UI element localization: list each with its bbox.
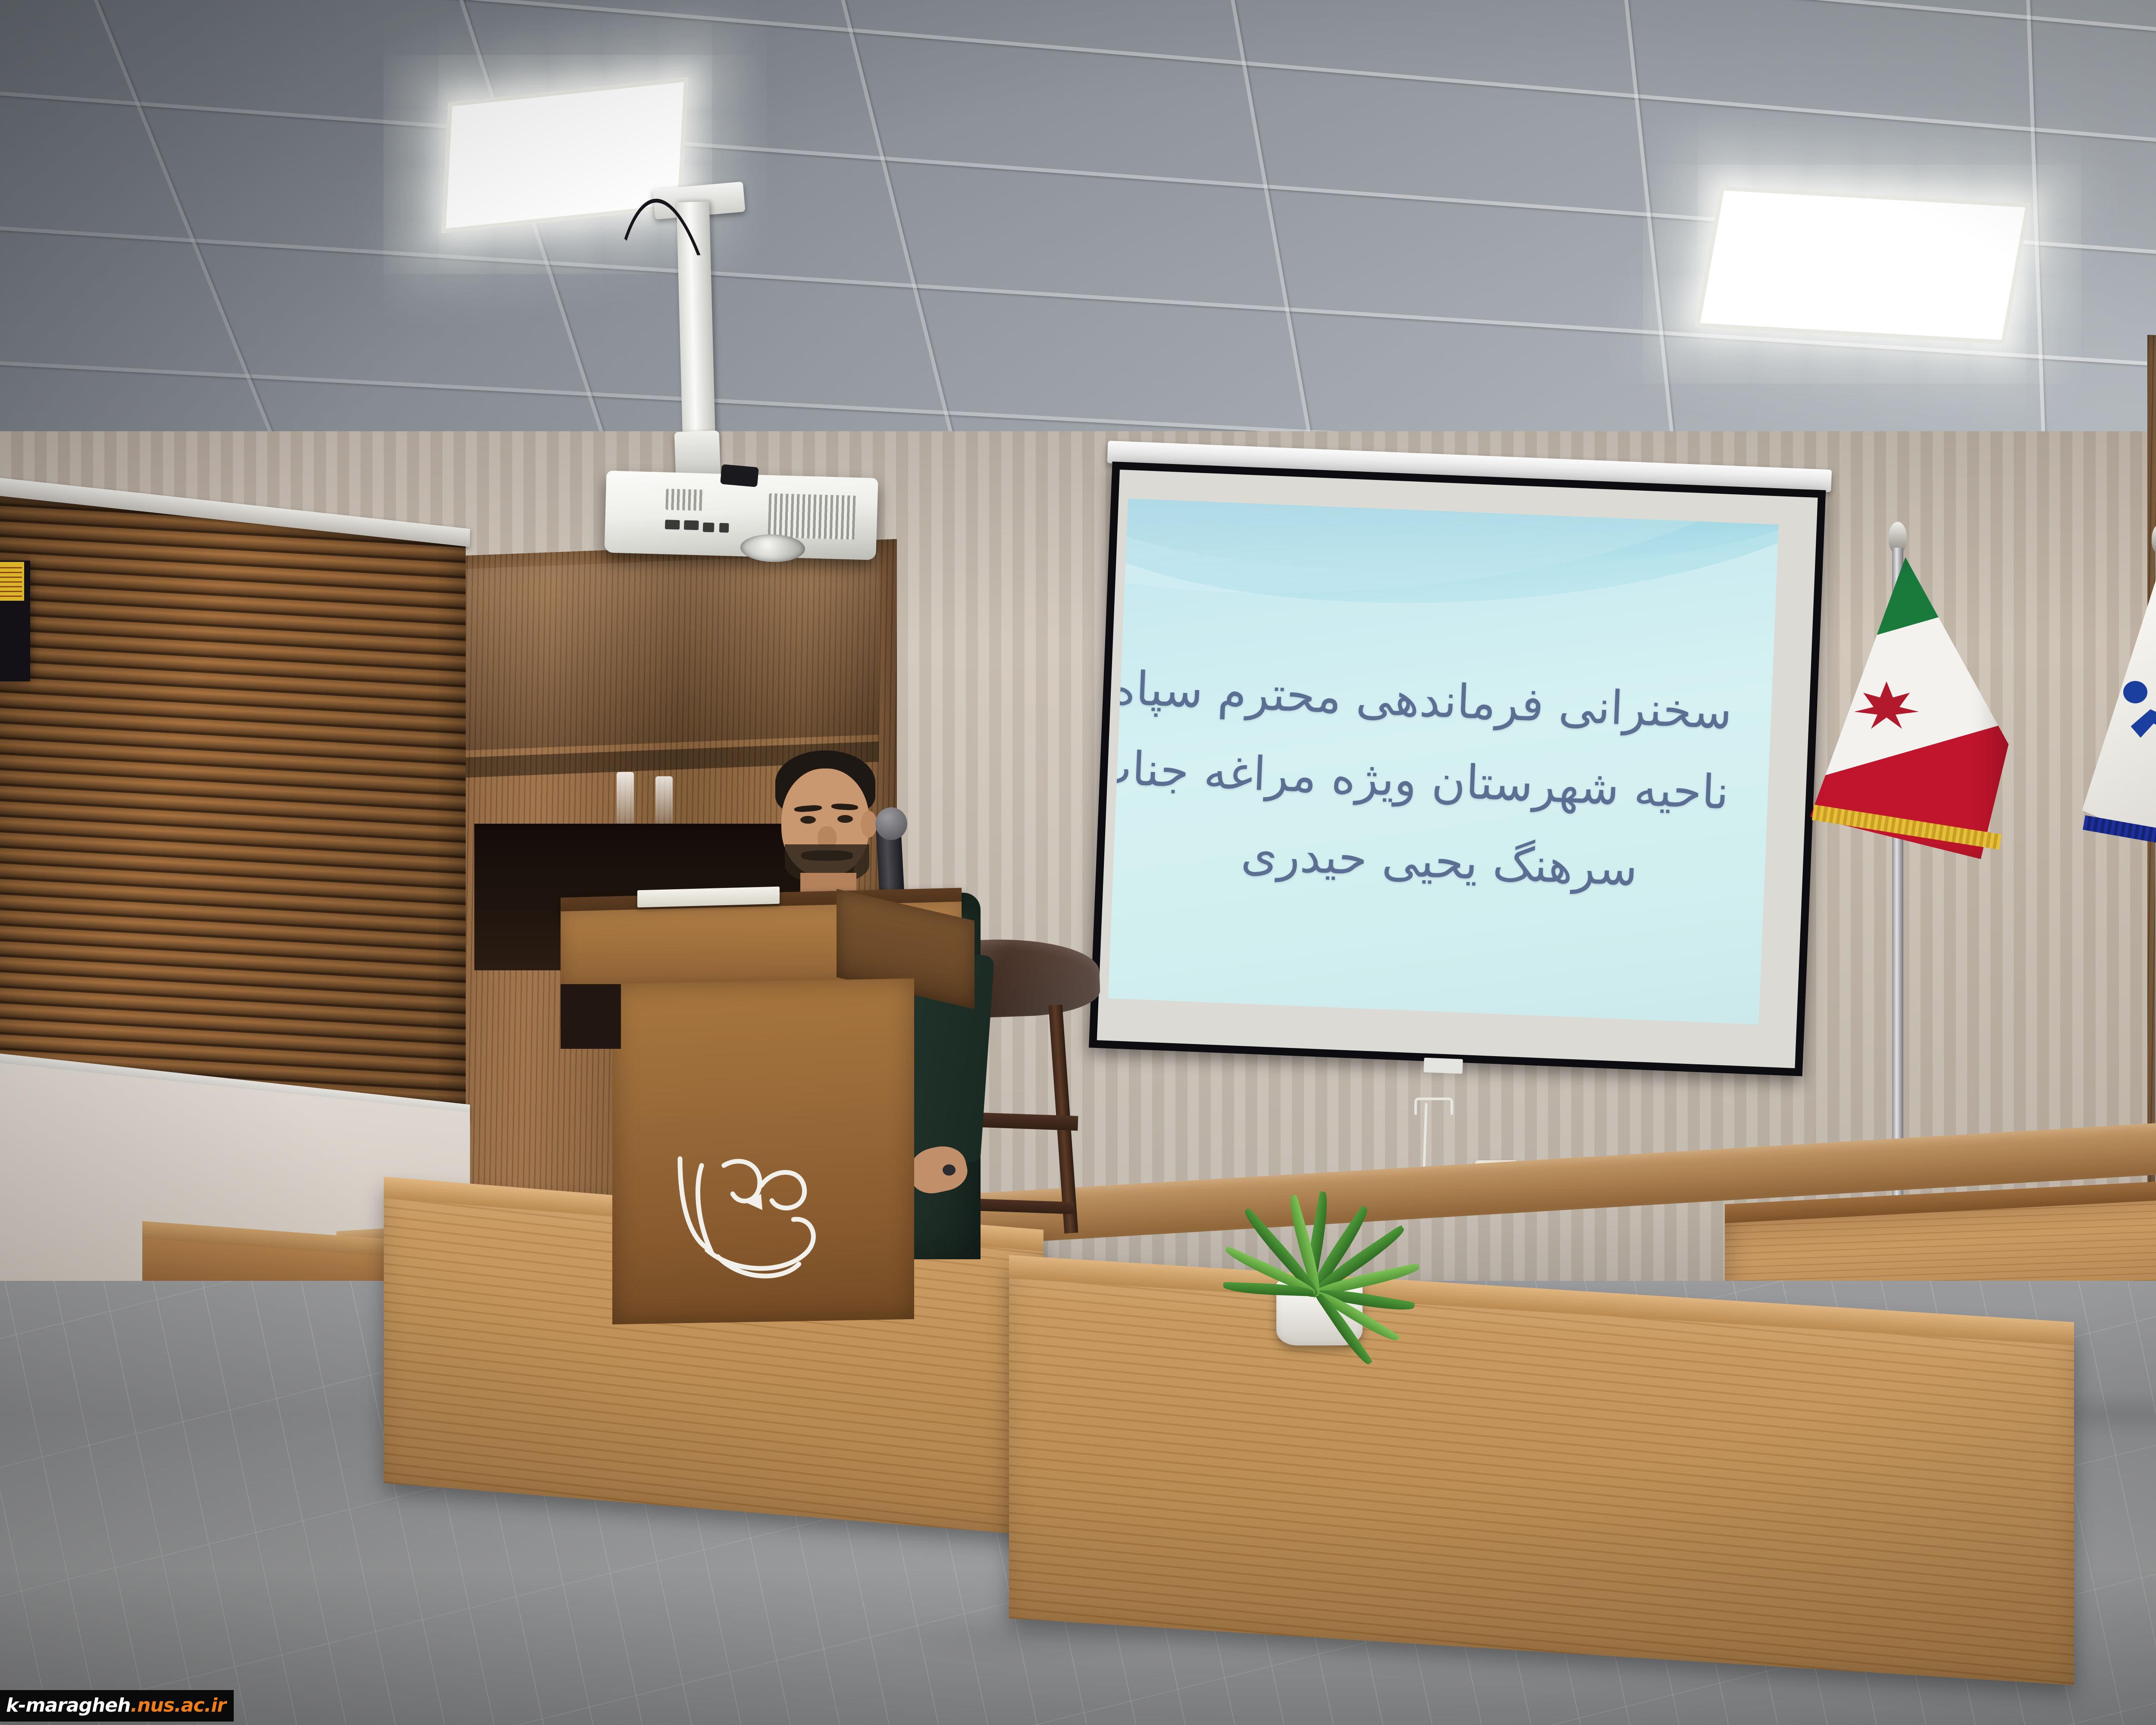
podium [561,893,1018,1324]
institution-flag-logo-dot [2123,681,2147,703]
glassware [617,772,634,824]
left-poster-label [0,562,24,601]
projection-screen-assembly[interactable]: سخنرانی فرماندهی محترم سپاه ناحیه شهرستا… [1083,441,1832,1090]
conference-hall-photo: سخنرانی فرماندهی محترم سپاه ناحیه شهرستا… [0,0,2156,1725]
glassware [655,776,673,824]
site-watermark: k-maragheh.nus.ac.ir [0,1690,234,1722]
cable-hook [1414,1098,1453,1115]
slide-text-block: سخنرانی فرماندهی محترم سپاه ناحیه شهرستا… [1151,650,1733,913]
ceiling-light-panel-right [1695,186,2031,344]
wooden-window-blinds[interactable] [0,487,466,1117]
microphone-head [875,807,907,840]
projector-cable [584,194,749,522]
potted-plant-right [1186,1113,1453,1380]
eye [800,816,816,824]
podium-inner-shelf [561,984,621,1049]
podium-logo [660,1134,862,1298]
watermark-suffix: .nus.ac.ir [130,1694,226,1716]
screen-pull-handle[interactable] [1423,1057,1463,1074]
watermark-prefix: k-maragheh [6,1694,130,1716]
projected-slide: سخنرانی فرماندهی محترم سپاه ناحیه شهرستا… [1108,499,1779,1025]
ceiling-projector-assembly [552,164,966,543]
